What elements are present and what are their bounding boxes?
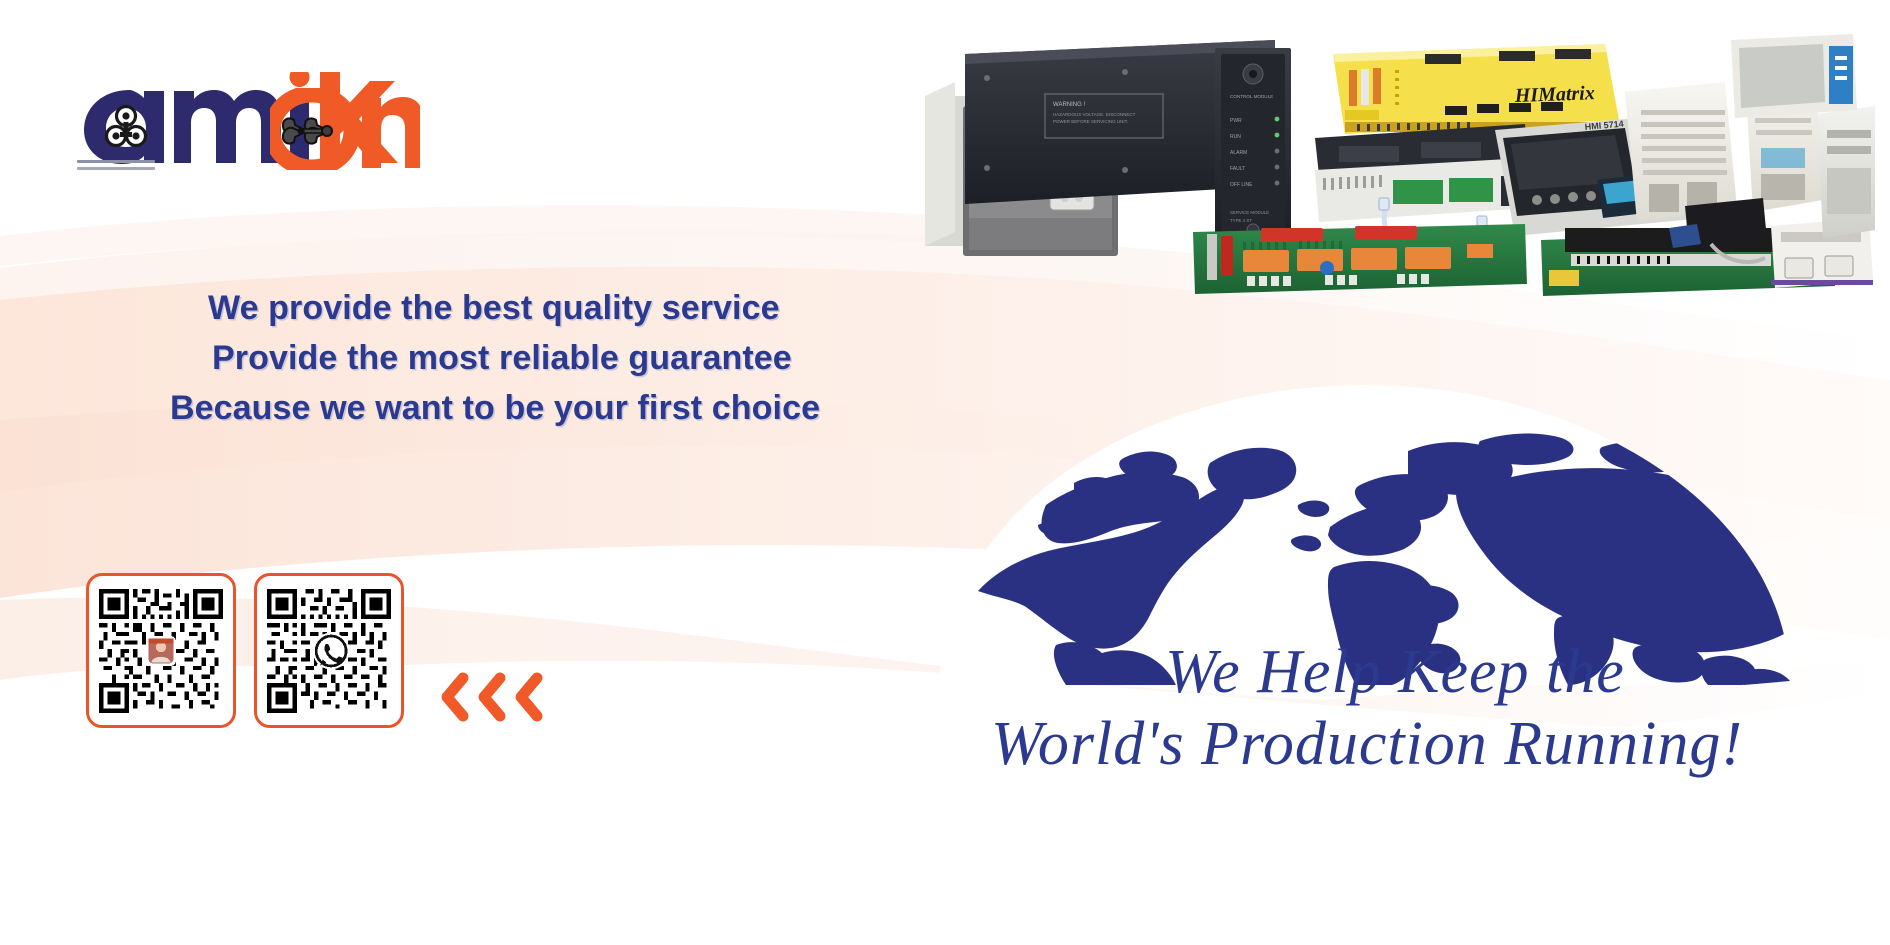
chevron-left-icon-2[interactable] [473,672,507,722]
din-rail-module-stack [1625,82,1737,222]
himatrix-safety-module: HIMatrix [1333,44,1619,134]
whatsapp-qr-image [267,589,391,713]
chevron-group[interactable] [436,672,544,722]
svg-text:RUN: RUN [1230,134,1241,140]
svg-text:SERVICE MODULE: SERVICE MODULE [1230,210,1269,215]
svg-text:TYPE 4 ST: TYPE 4 ST [1230,218,1252,223]
logo[interactable] [72,72,412,182]
logo-rule-2 [77,167,155,170]
wechat-qr[interactable] [86,573,236,728]
tagline-block: We provide the best quality service Prov… [170,283,930,433]
chevron-left-icon-3[interactable] [510,672,544,722]
avatar-photo-icon [146,636,176,666]
svg-text:FAULT: FAULT [1230,166,1245,172]
promo-banner: ABB TRIPALARM READYTEST STARTBLOCK W [0,0,1890,945]
globe-script-line-2: World's Production Running! [860,707,1870,781]
propeller-icon [283,118,332,143]
globe-script-text: We Help Keep the World's Production Runn… [860,637,1870,781]
svg-text:WARNING !: WARNING ! [1053,102,1085,108]
logo-rule-1 [77,160,155,163]
svg-text:CONTROL MODULE: CONTROL MODULE [1230,94,1273,99]
tagline-line-3: Because we want to be your first choice [170,383,930,433]
tagline-line-2: Provide the most reliable guarantee [170,333,930,383]
chevron-left-icon-1[interactable] [436,672,470,722]
logo-letter-n [362,97,420,168]
rack-mount-module: CONTROL MODULE PWRRUN ALARMFAULT OFF LIN… [1215,48,1291,238]
logo-letter-m [174,90,281,163]
qr-code-row [86,573,404,728]
wechat-qr-image [99,589,223,713]
svg-text:HAZARDOUS VOLTAGE. DISCONNECT: HAZARDOUS VOLTAGE. DISCONNECT [1053,112,1136,117]
svg-text:POWER BEFORE SERVICING UNIT.: POWER BEFORE SERVICING UNIT. [1053,119,1128,124]
svg-text:OFF LINE: OFF LINE [1230,182,1253,188]
grey-processor-module [1817,106,1875,238]
tagline-line-1: We provide the best quality service [170,283,930,333]
whatsapp-qr[interactable] [254,573,404,728]
product-collage: ABB TRIPALARM READYTEST STARTBLOCK W [925,18,1875,298]
globe-block: We Help Keep the World's Production Runn… [860,355,1870,945]
svg-text:PWR: PWR [1230,118,1242,124]
hmi-display-panel [1731,34,1857,118]
amikon-logo-on [270,88,420,170]
green-terminal-board [1193,224,1527,294]
svg-text:ALARM: ALARM [1230,150,1247,156]
logo-underline-rules [77,160,155,174]
world-globe-dome-icon [860,355,1870,685]
globe-script-line-1: We Help Keep the [860,637,1870,707]
whatsapp-icon [313,632,350,669]
i-dot-icon [290,72,310,87]
